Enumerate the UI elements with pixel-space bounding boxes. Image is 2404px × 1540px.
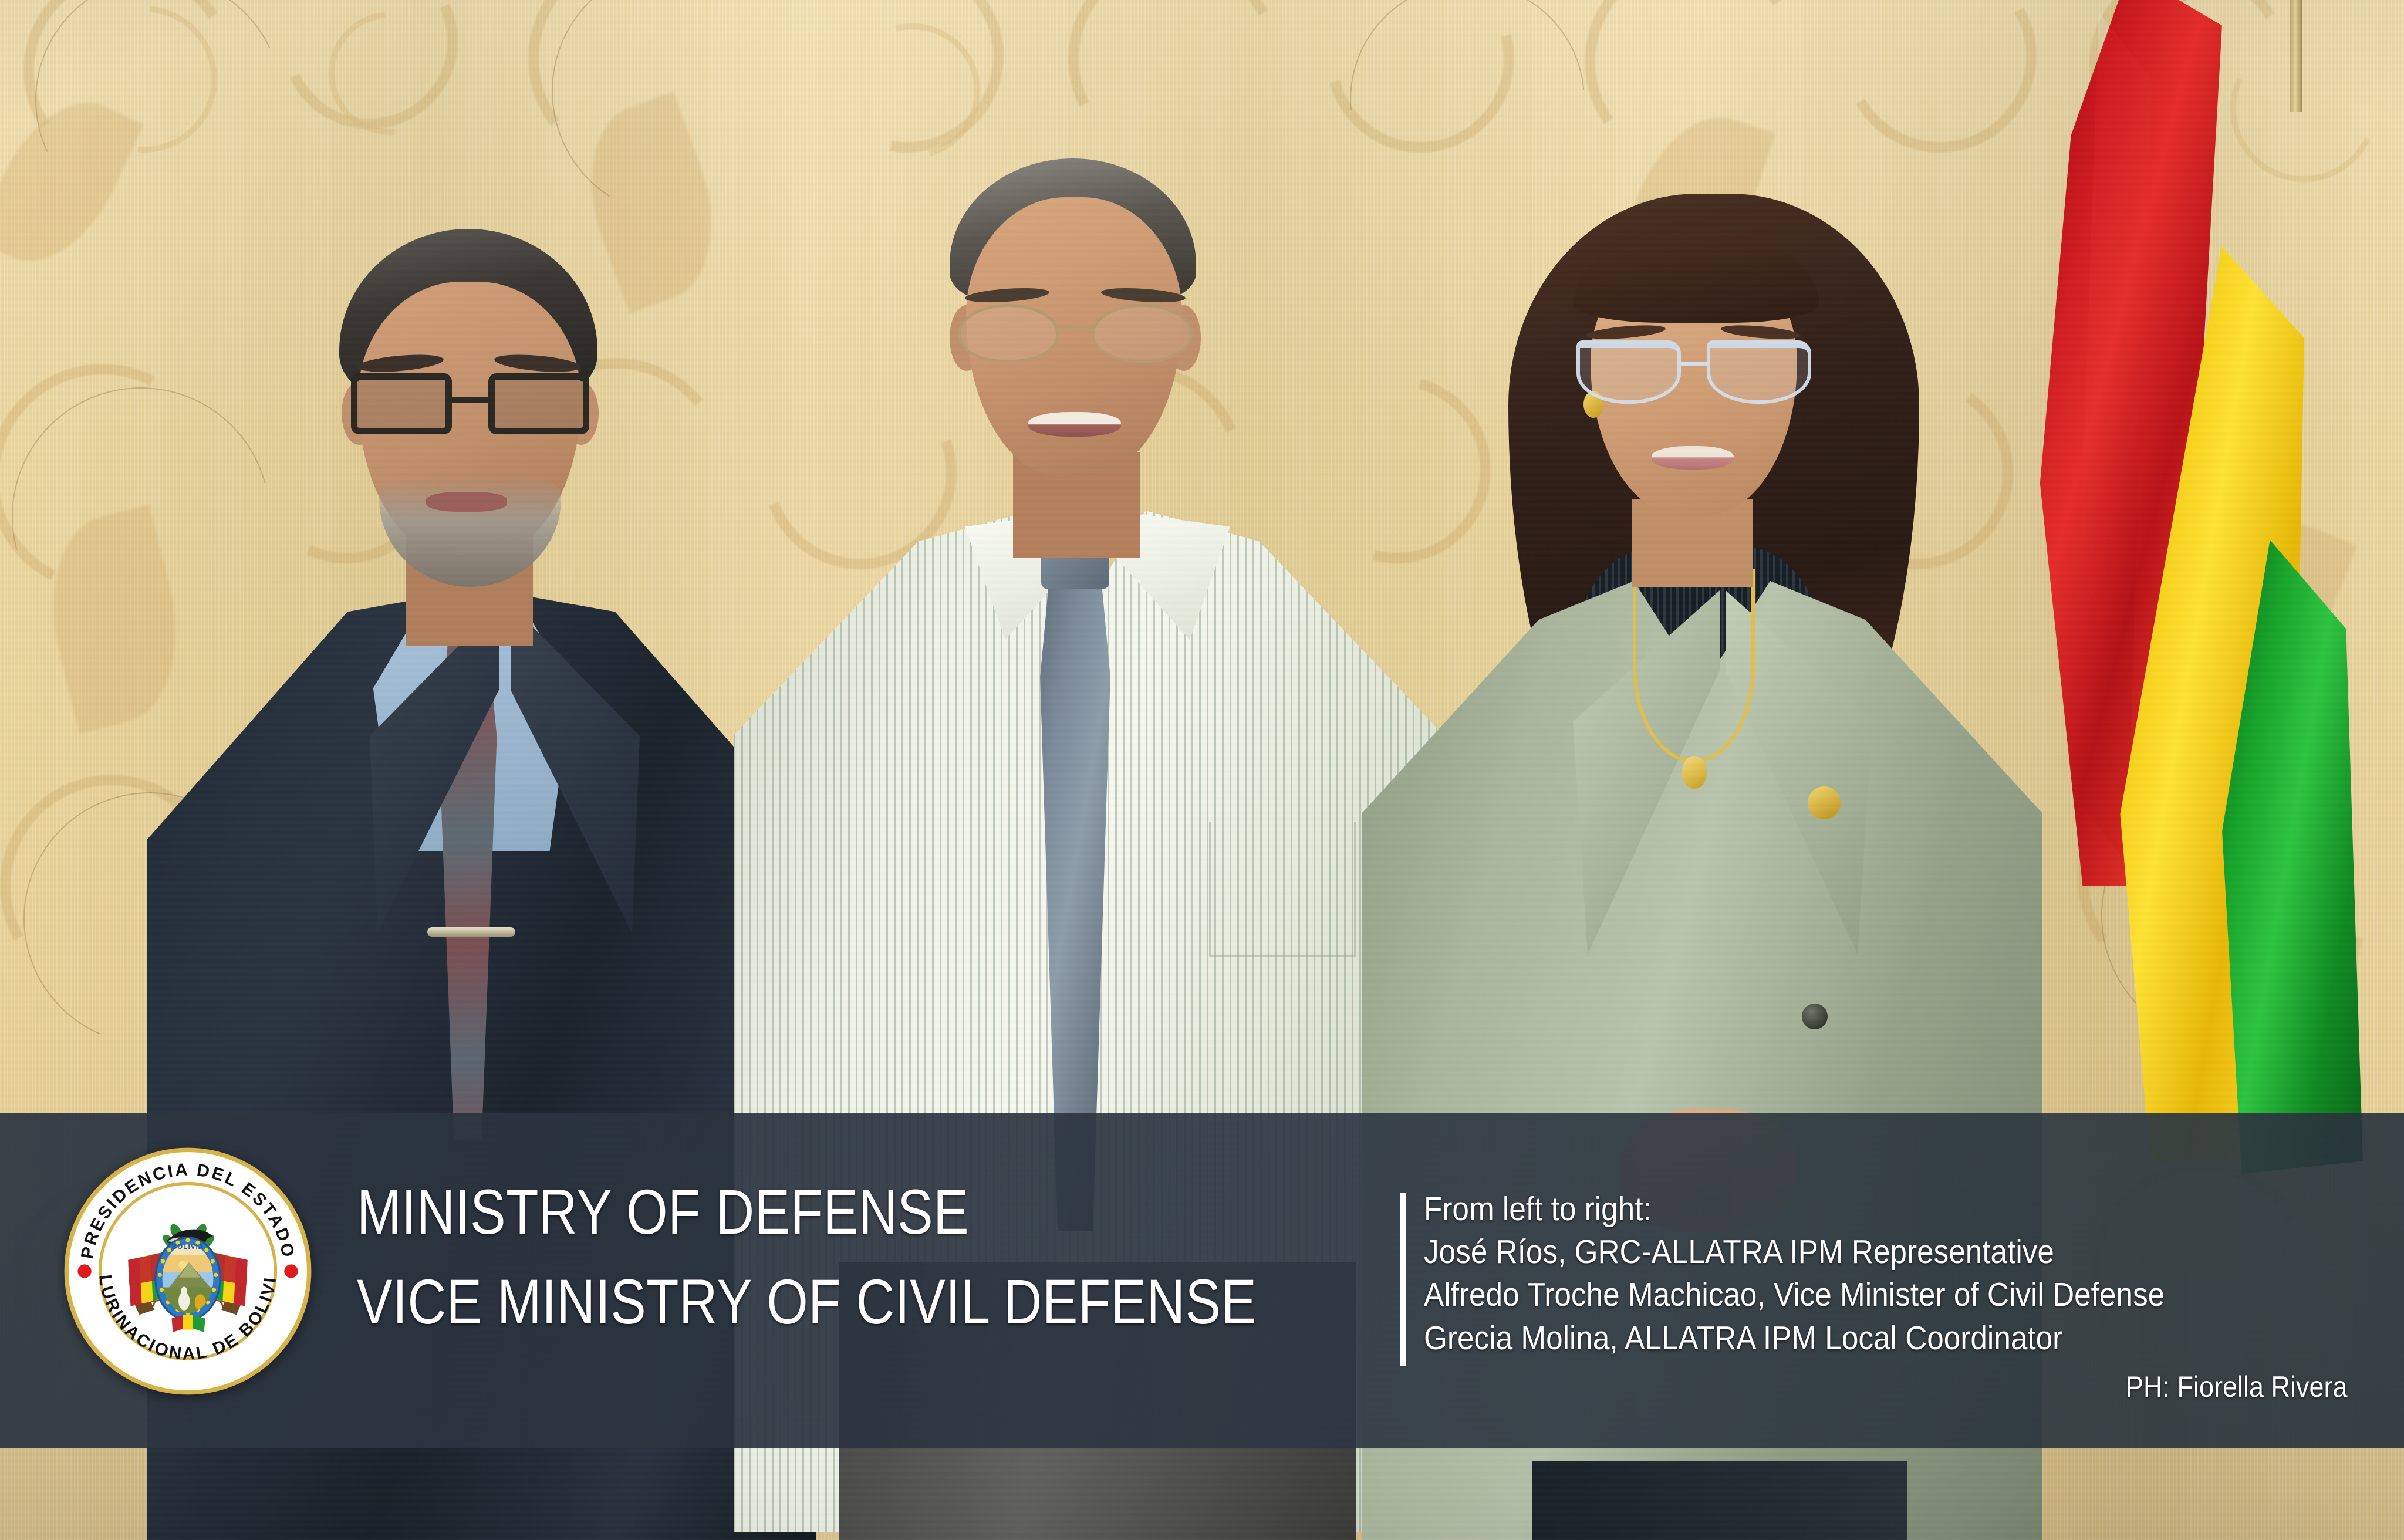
- eyeglasses: [351, 373, 589, 434]
- shirt-pocket: [1209, 822, 1356, 957]
- title-line-2: VICE MINISTRY OF CIVIL DEFENSE: [357, 1257, 1257, 1346]
- lapel-pin: [1808, 786, 1841, 819]
- mouth: [426, 492, 507, 512]
- credits-intro: From left to right:: [1424, 1188, 2227, 1231]
- credits-person-1: José Ríos, GRC-ALLATRA IPM Representativ…: [1424, 1231, 2227, 1274]
- mouth: [1652, 446, 1734, 470]
- necklace-chain: [1633, 569, 1755, 763]
- caption-banner: PRESIDENCIA DEL ESTADO PLURINACIONAL DE …: [0, 1113, 2404, 1448]
- title-line-1: MINISTRY OF DEFENSE: [357, 1167, 1257, 1257]
- photo-credit: PH: Fiorella Rivera: [2126, 1370, 2348, 1404]
- eyeglasses: [1576, 340, 1811, 404]
- skirt: [1532, 1461, 1907, 1540]
- flag-pole: [2290, 0, 2302, 112]
- seal-shield-motto: BOLIVIA: [172, 1243, 204, 1251]
- blazer-button: [1802, 1004, 1828, 1029]
- banner-titles: MINISTRY OF DEFENSE VICE MINISTRY OF CIV…: [357, 1167, 1428, 1347]
- eyeglasses: [958, 304, 1193, 363]
- caption-credits: From left to right: José Ríos, GRC-ALLAT…: [1400, 1188, 2316, 1360]
- credits-person-3: Grecia Molina, ALLATRA IPM Local Coordin…: [1424, 1317, 2227, 1360]
- tie-clip: [427, 927, 515, 937]
- credits-vertical-rule: [1400, 1193, 1406, 1366]
- mouth: [1028, 412, 1121, 437]
- credits-person-2: Alfredo Troche Machicao, Vice Minister o…: [1424, 1274, 2227, 1316]
- photo-banner-image: PRESIDENCIA DEL ESTADO PLURINACIONAL DE …: [0, 0, 2404, 1540]
- necklace-pendant: [1682, 756, 1707, 789]
- bolivia-flag: [2028, 0, 2404, 1168]
- bolivia-presidential-seal-icon: PRESIDENCIA DEL ESTADO PLURINACIONAL DE …: [63, 1147, 312, 1396]
